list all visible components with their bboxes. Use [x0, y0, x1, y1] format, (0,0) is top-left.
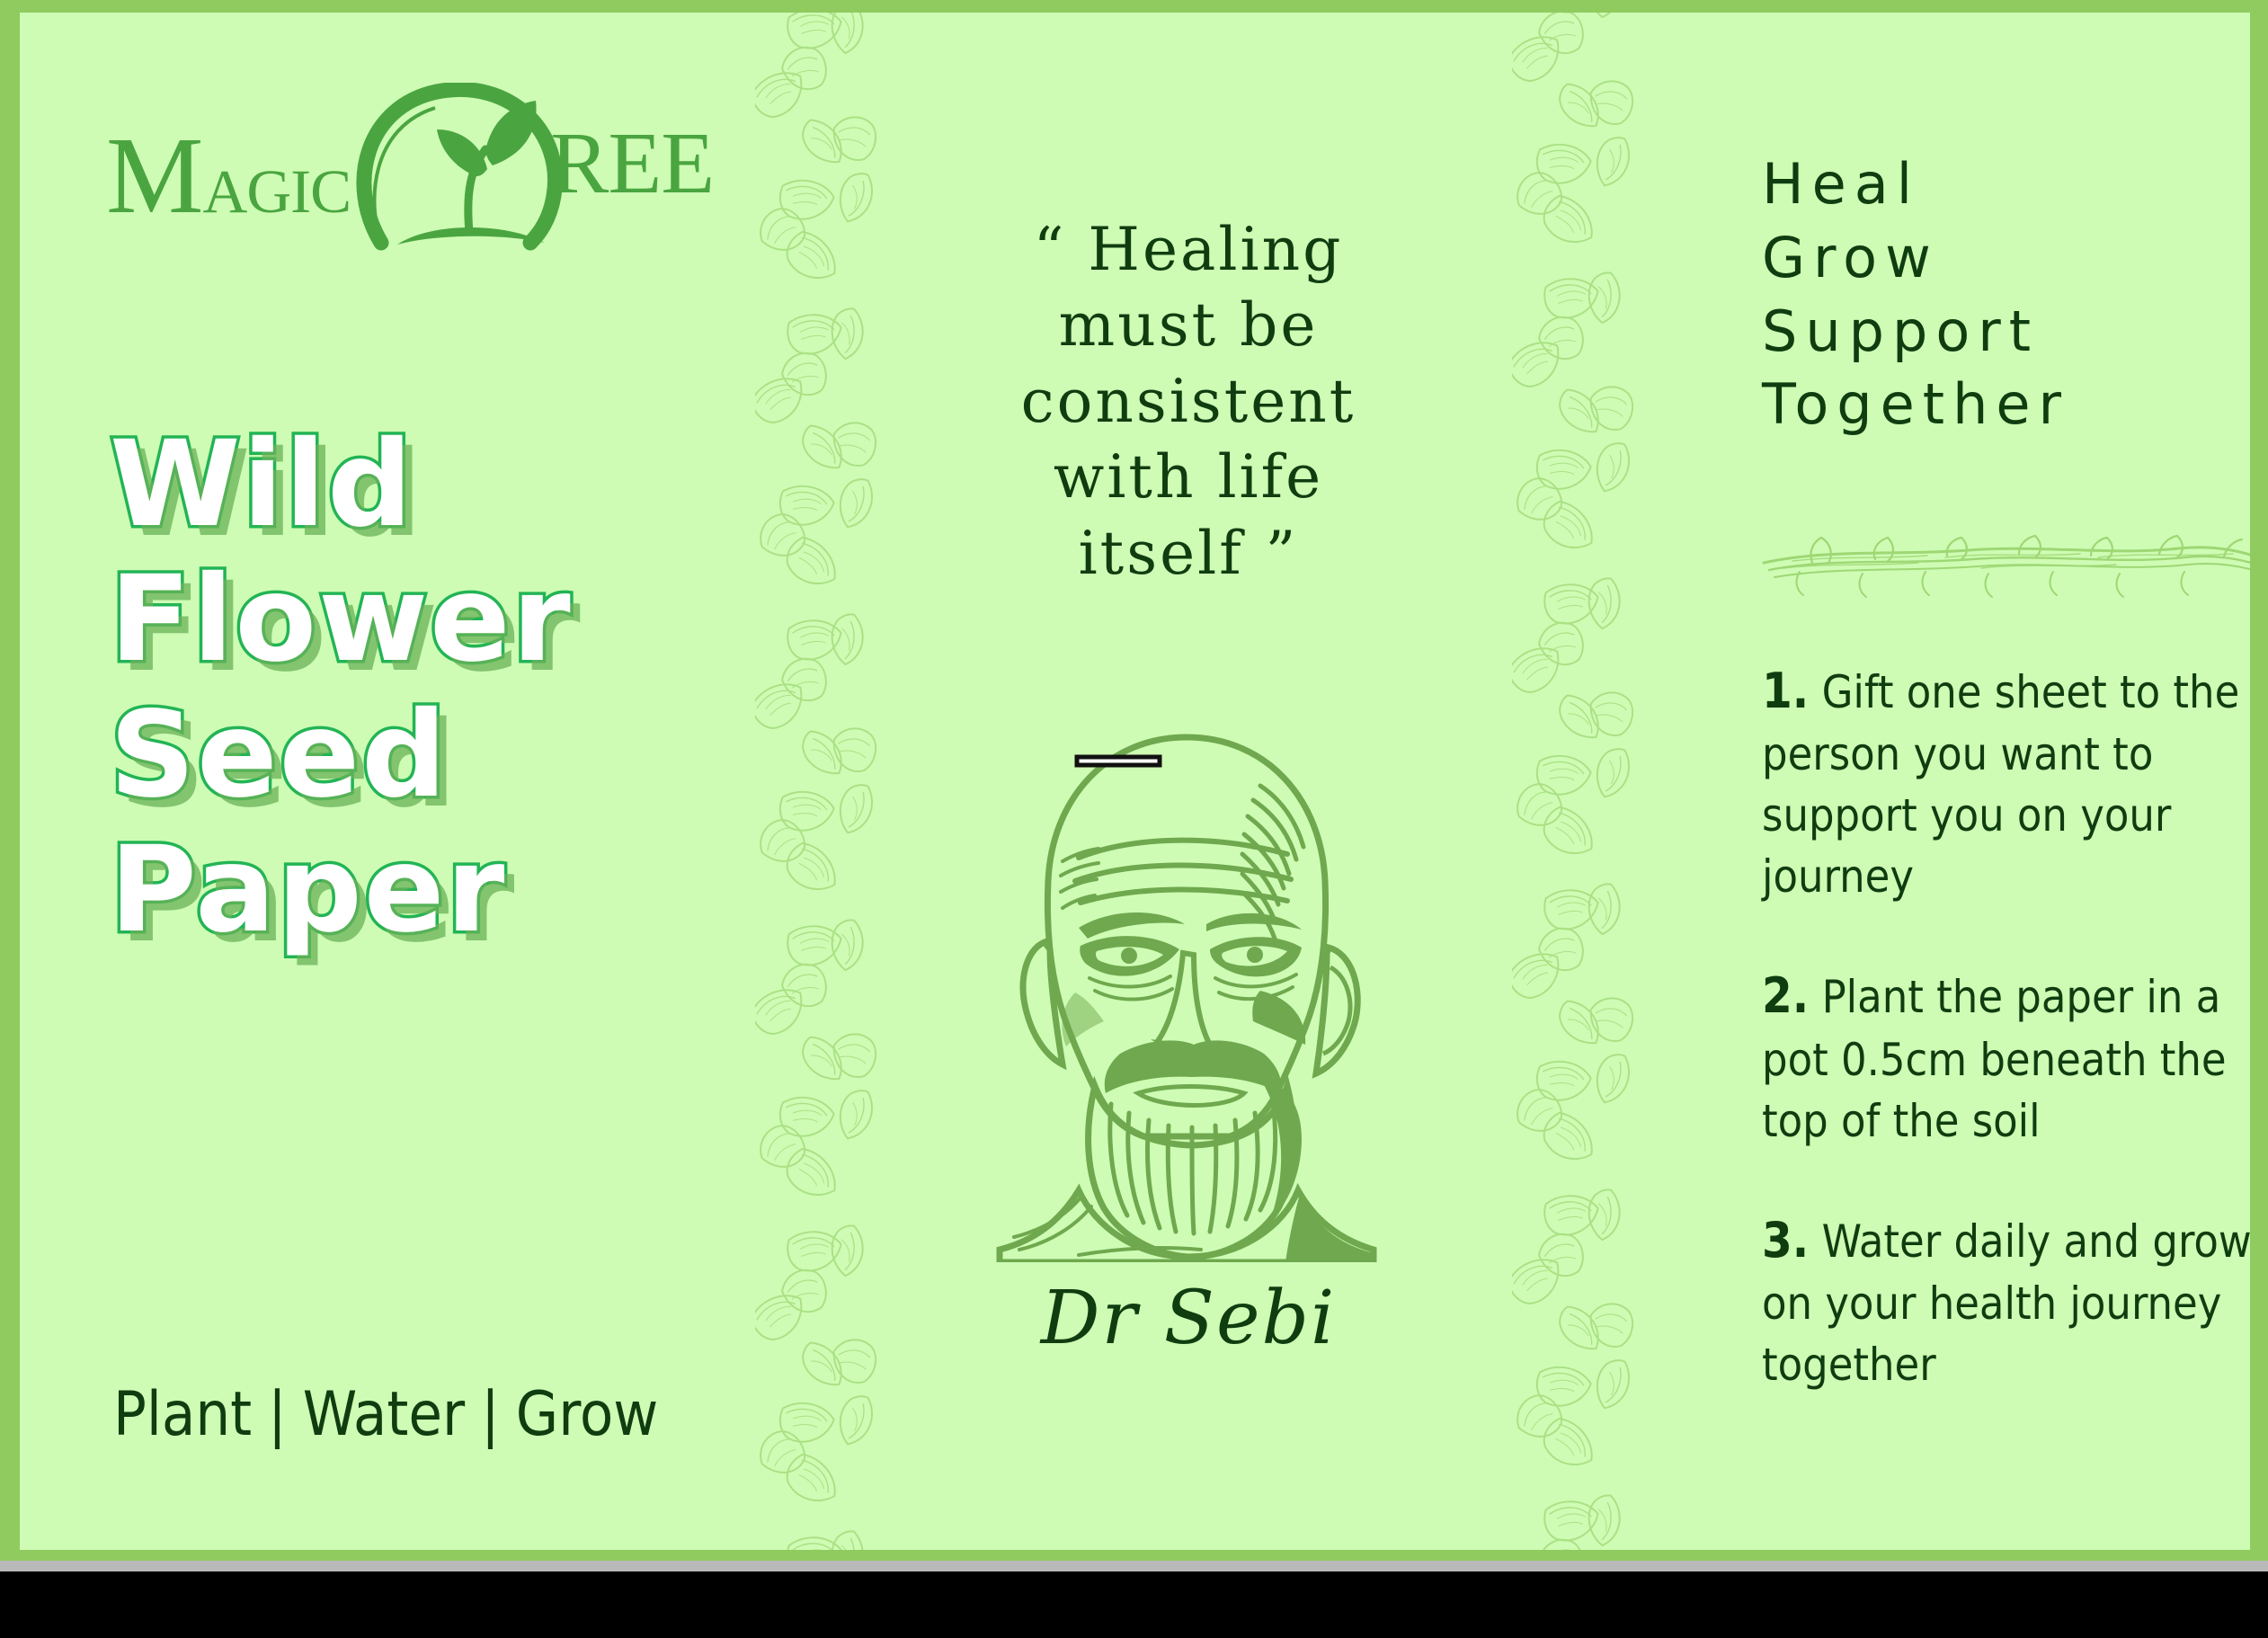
quote-open-mark: “ [1034, 215, 1067, 284]
quote-line-1: Healing [1088, 215, 1343, 284]
product-title-line-4: Paper [110, 823, 703, 957]
leaf-vine-right [1512, 13, 1647, 1550]
brand-logo: Magic REE [106, 83, 663, 263]
quote-attribution: Dr Sebi [901, 1276, 1476, 1361]
quote-close-mark: ” [1266, 519, 1299, 588]
quote-block: “ Healing must be consistent with life i… [901, 212, 1476, 592]
product-title: Wild Flower Seed Paper [110, 417, 703, 958]
product-title-line-1: Wild [110, 417, 703, 552]
quote-line-3: consistent [1021, 367, 1356, 436]
instruction-step-1: 1. Gift one sheet to the person you want… [1762, 658, 2250, 907]
step-2-number: 2. [1762, 967, 1809, 1024]
logo-wordmark-tree: REE [550, 113, 714, 214]
label-sheet: Magic REE Wild Flower Seed Pa [20, 13, 2250, 1550]
left-column: Magic REE Wild Flower Seed Pa [90, 13, 719, 1550]
logo-magic-rest: agic [202, 135, 351, 232]
motto-line-together: Together [1762, 368, 2250, 441]
instruction-step-3: 3. Water daily and grow on your health j… [1762, 1207, 2250, 1395]
packaging-label-canvas: Magic REE Wild Flower Seed Pa [0, 0, 2268, 1638]
step-1-number: 1. [1762, 663, 1809, 719]
product-title-line-3: Seed [110, 688, 703, 823]
step-1-text: Gift one sheet to the person you want to… [1762, 666, 2239, 903]
step-3-text: Water daily and grow on your health jour… [1762, 1215, 2250, 1391]
portrait-wrapper [944, 723, 1429, 1262]
quote-line-5: itself [1079, 519, 1244, 588]
tagline-separator-1: | [252, 1379, 303, 1450]
logo-initial-m: M [106, 115, 202, 236]
motto-line-support: Support [1762, 295, 2250, 369]
grey-rule [0, 1561, 2268, 1571]
tree-sprout-circle-icon [351, 83, 584, 258]
motto-line-heal: Heal [1762, 147, 2250, 221]
vine-branch-divider-icon [1757, 516, 2250, 602]
logo-wordmark-magic: Magic [106, 113, 351, 239]
instruction-steps: 1. Gift one sheet to the person you want… [1762, 658, 2250, 1451]
motto-line-grow: Grow [1762, 221, 2250, 295]
centre-column: “ Healing must be consistent with life i… [901, 13, 1476, 1550]
motto-block: Heal Grow Support Together [1762, 147, 2250, 441]
tagline-item-grow: Grow [516, 1379, 659, 1450]
right-column: Heal Grow Support Together [1762, 13, 2250, 1550]
instruction-step-2: 2. Plant the paper in a pot 0.5cm beneat… [1762, 963, 2250, 1151]
tagline-item-plant: Plant [113, 1379, 252, 1450]
quote-line-2: must be [1059, 290, 1319, 360]
leaf-vine-left [755, 13, 890, 1550]
product-title-line-2: Flower [110, 552, 703, 687]
tagline-item-water: Water [303, 1379, 465, 1450]
step-2-text: Plant the paper in a pot 0.5cm beneath t… [1762, 971, 2227, 1146]
tagline: Plant|Water|Grow [113, 1379, 658, 1450]
tagline-separator-2: | [465, 1379, 516, 1450]
dr-sebi-portrait-icon [944, 723, 1429, 1262]
step-3-number: 3. [1762, 1212, 1809, 1269]
quote-line-4: with life [1054, 442, 1323, 512]
label-card: Magic REE Wild Flower Seed Pa [0, 0, 2268, 1564]
bottom-black-bar [0, 1571, 2268, 1638]
